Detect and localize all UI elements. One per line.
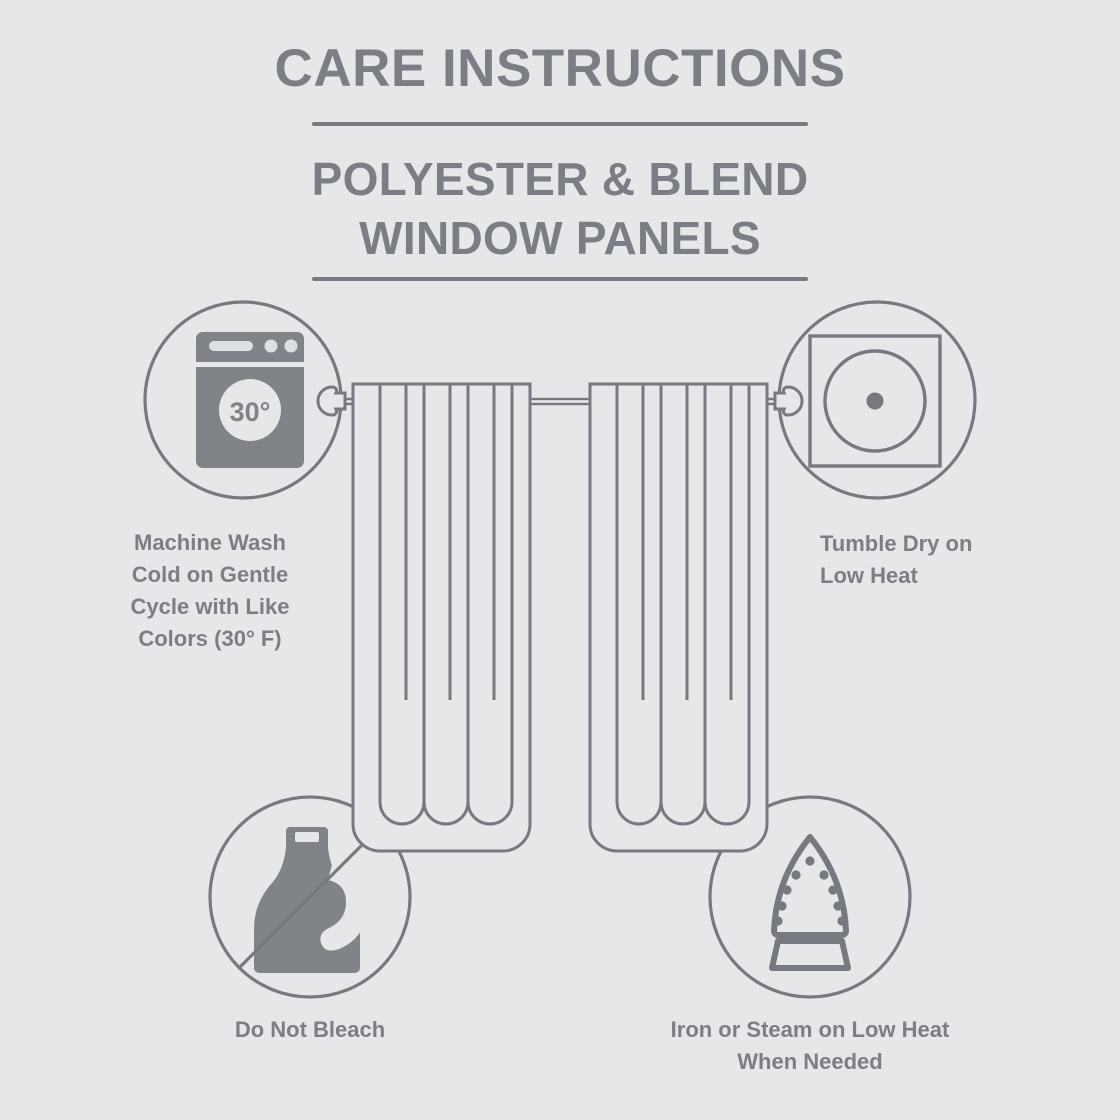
- tumble-dry-low-icon: [810, 336, 940, 466]
- page-subtitle: POLYESTER & BLEND WINDOW PANELS: [0, 150, 1120, 268]
- caption-do-not-bleach: Do Not Bleach: [160, 1014, 460, 1046]
- curtain-panel-left: [353, 384, 530, 851]
- washing-machine-icon: 30°: [196, 332, 304, 468]
- care-instructions-infographic: 30°: [0, 0, 1120, 1120]
- caption-tumble-dry: Tumble Dry on Low Heat: [820, 528, 1090, 592]
- caption-iron: Iron or Steam on Low Heat When Needed: [600, 1014, 1020, 1078]
- divider-top: [312, 122, 808, 126]
- divider-bottom: [312, 277, 808, 281]
- svg-text:30°: 30°: [230, 397, 271, 427]
- page-title: CARE INSTRUCTIONS: [0, 38, 1120, 101]
- curtain-panel-right: [590, 384, 767, 851]
- no-bleach-icon: [240, 826, 381, 973]
- iron-low-heat-icon: [772, 837, 848, 968]
- caption-machine-wash: Machine Wash Cold on Gentle Cycle with L…: [60, 527, 360, 655]
